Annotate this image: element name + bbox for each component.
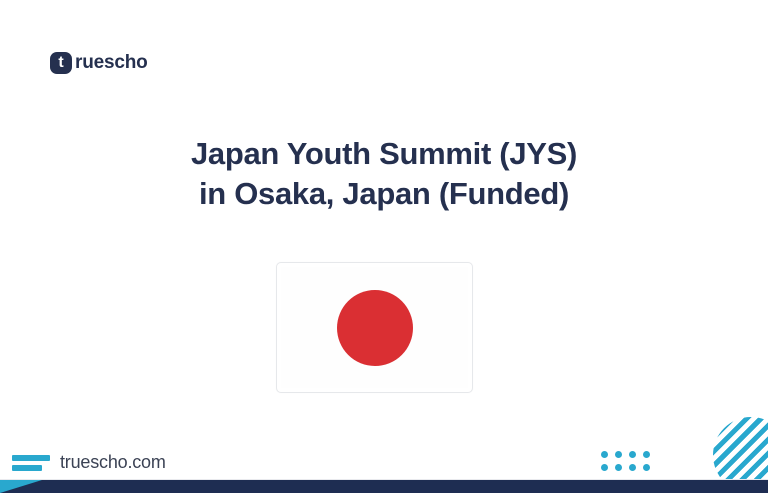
- truescho-logo-icon: t: [50, 52, 72, 74]
- brand-logo[interactable]: t ruescho: [50, 52, 148, 74]
- page-title-line-2: in Osaka, Japan (Funded): [60, 174, 708, 214]
- dot: [601, 451, 608, 458]
- footer-band: [0, 480, 768, 493]
- dot: [629, 464, 636, 471]
- cyan-bars-icon: [12, 453, 50, 472]
- flag-red-disc: [337, 290, 413, 366]
- brand-wordmark: ruescho: [75, 52, 148, 74]
- page-title-line-1: Japan Youth Summit (JYS): [60, 134, 708, 174]
- dot: [601, 464, 608, 471]
- footer-url-block[interactable]: truescho.com: [12, 452, 166, 473]
- page-title: Japan Youth Summit (JYS) in Osaka, Japan…: [0, 134, 768, 215]
- cyan-wedge-decoration: [0, 480, 42, 493]
- japan-flag-icon: [281, 267, 468, 388]
- dot-grid-decoration: [601, 451, 650, 471]
- dot: [629, 451, 636, 458]
- dot: [615, 464, 622, 471]
- japan-flag-card: [276, 262, 473, 393]
- dot: [615, 451, 622, 458]
- dot: [643, 464, 650, 471]
- dot: [643, 451, 650, 458]
- footer-url-text: truescho.com: [60, 452, 166, 473]
- poster-canvas: t ruescho Japan Youth Summit (JYS) in Os…: [0, 0, 768, 493]
